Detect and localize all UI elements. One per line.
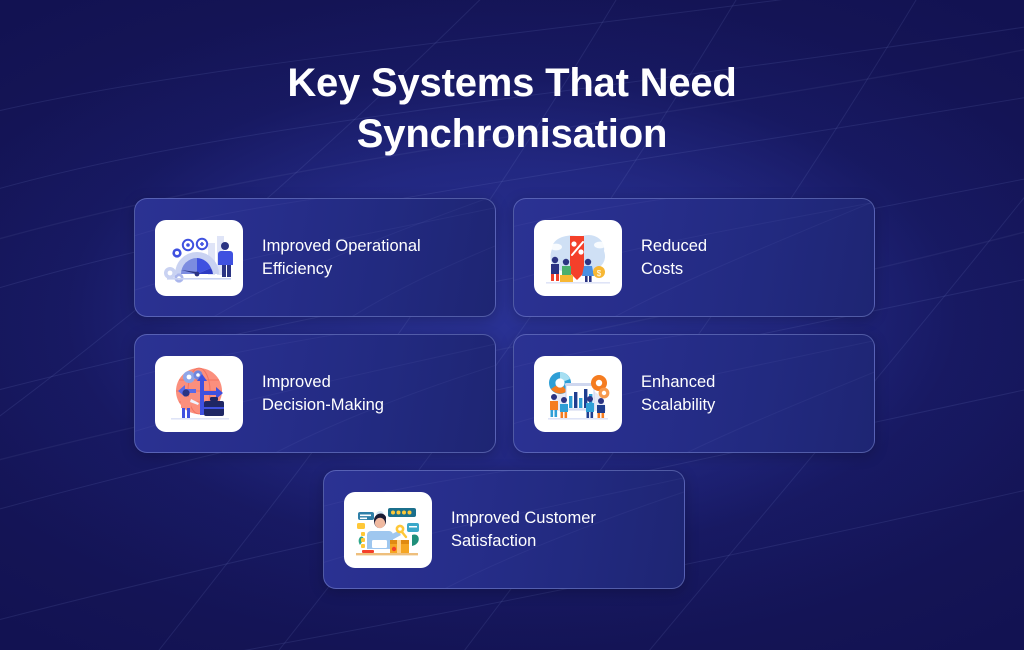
benefit-card-improved-customer-satisfaction[interactable]: Improved Customer Satisfaction: [323, 470, 685, 589]
customer-review-stars-icon: [344, 492, 432, 568]
down-arrow-percent-icon: $: [534, 220, 622, 296]
benefit-card-label: Improved Operational Efficiency: [262, 235, 421, 280]
page-title-line-1: Key Systems That Need: [0, 58, 1024, 109]
benefit-card-reduced-costs[interactable]: $ Reduced Costs: [513, 198, 875, 317]
page-title-line-2: Synchronisation: [0, 109, 1024, 160]
benefit-card-label: Enhanced Scalability: [641, 371, 715, 416]
benefit-card-enhanced-scalability[interactable]: Enhanced Scalability: [513, 334, 875, 453]
svg-text:$: $: [597, 269, 602, 278]
slide-canvas: Key Systems That Need Synchronisation: [0, 0, 1024, 650]
benefit-card-label: Reduced Costs: [641, 235, 707, 280]
globe-arrows-briefcase-icon: [155, 356, 243, 432]
speedometer-gauge-icon: [155, 220, 243, 296]
charts-gears-team-icon: [534, 356, 622, 432]
page-title: Key Systems That Need Synchronisation: [0, 58, 1024, 160]
benefit-card-improved-operational-efficiency[interactable]: Improved Operational Efficiency: [134, 198, 496, 317]
benefit-card-label: Improved Customer Satisfaction: [451, 507, 596, 552]
benefit-card-improved-decision-making[interactable]: Improved Decision-Making: [134, 334, 496, 453]
benefit-card-label: Improved Decision-Making: [262, 371, 384, 416]
